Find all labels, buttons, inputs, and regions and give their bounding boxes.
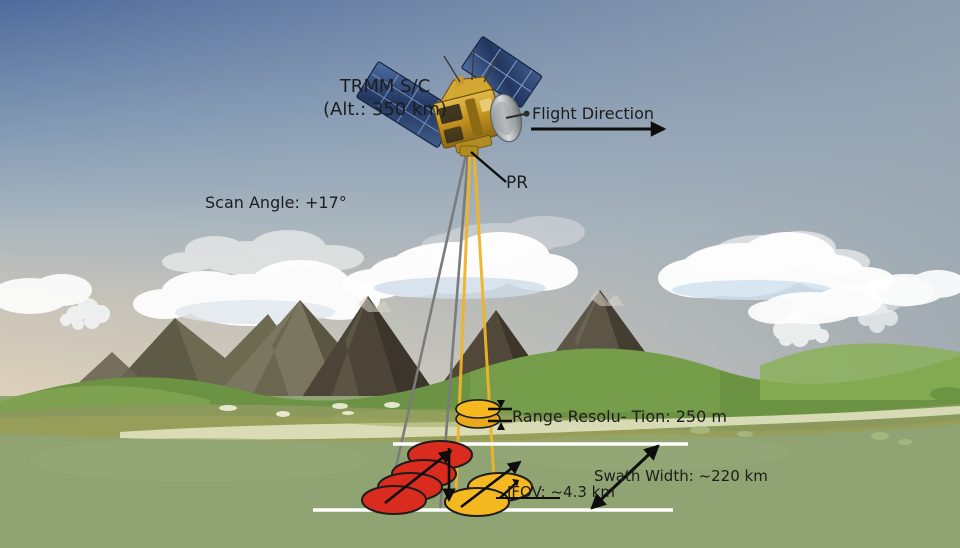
ifov-label: IFOV: ~4.3 km	[507, 483, 615, 502]
scan-angle-label: Scan Angle: +17°	[205, 193, 347, 213]
spacecraft-name: TRMM S/C	[323, 76, 447, 99]
spacecraft-altitude: (Alt.: 350 km)	[323, 99, 447, 122]
footprint-yellow-2	[445, 488, 509, 516]
flight-direction-label: Flight Direction	[532, 104, 654, 124]
spacecraft-label: TRMM S/C (Alt.: 350 km)	[323, 76, 447, 121]
figure-canvas: TRMM S/C (Alt.: 350 km) Flight Direction…	[0, 0, 960, 548]
trmm-scan-geometry-illustration	[0, 0, 960, 548]
range-resolution-label: Range Resolu- Tion: 250 m	[512, 407, 727, 427]
swath-width-label: Swath Width: ~220 km	[594, 467, 768, 486]
pr-instrument-label: PR	[506, 173, 528, 194]
footprint-red-4	[362, 486, 426, 514]
